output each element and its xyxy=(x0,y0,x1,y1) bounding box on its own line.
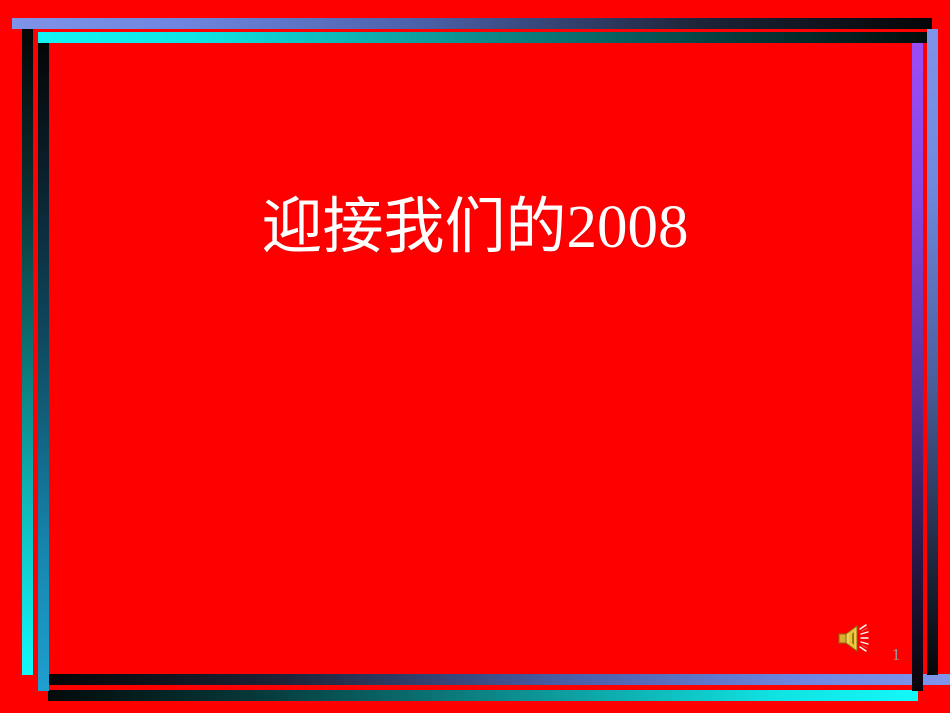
border-bar-right-inner xyxy=(912,43,923,691)
border-bar-top-outer xyxy=(12,18,932,29)
presentation-slide: 迎接我们的2008 1 xyxy=(0,0,950,713)
slide-title: 迎接我们的2008 xyxy=(0,196,950,260)
border-bar-left-outer xyxy=(22,29,33,675)
border-bar-top-inner xyxy=(38,32,932,43)
border-bar-left-inner xyxy=(38,43,49,691)
border-bar-right-outer xyxy=(927,29,938,675)
speaker-icon[interactable] xyxy=(836,620,876,656)
slide-number: 1 xyxy=(884,645,908,665)
border-bar-bottom-outer xyxy=(48,674,950,685)
border-bar-bottom-inner xyxy=(48,690,918,701)
